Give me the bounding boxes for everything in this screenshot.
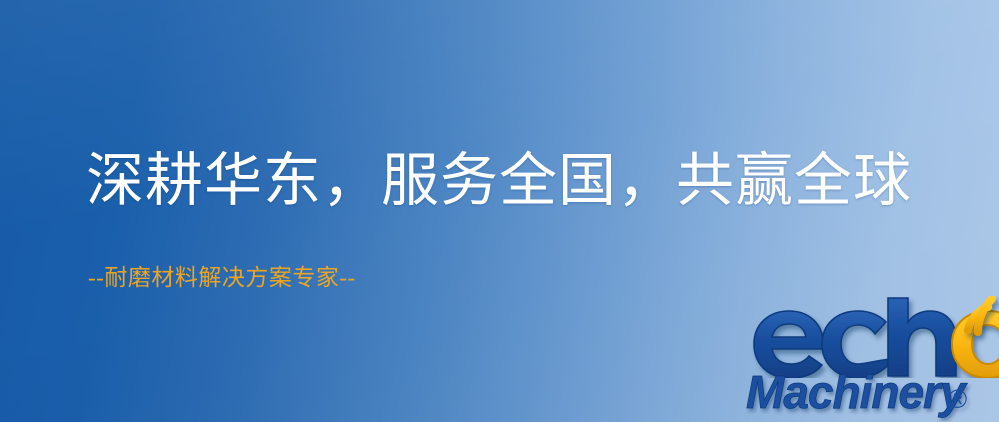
logo-tagline-text: Machinery — [746, 366, 968, 418]
promotional-banner: 深耕华东，服务全国，共赢全球 --耐磨材料解决方案专家-- — [0, 0, 999, 422]
logo-machinery-svg: Machinery ® — [746, 364, 999, 422]
banner-subtitle: --耐磨材料解决方案专家-- — [88, 266, 356, 289]
echo-machinery-logo: Machinery ® — [742, 296, 999, 422]
banner-headline: 深耕华东，服务全国，共赢全球 — [86, 152, 912, 210]
logo-trademark-symbol: ® — [948, 384, 967, 414]
logo-wordmark: Machinery ® — [742, 296, 999, 378]
